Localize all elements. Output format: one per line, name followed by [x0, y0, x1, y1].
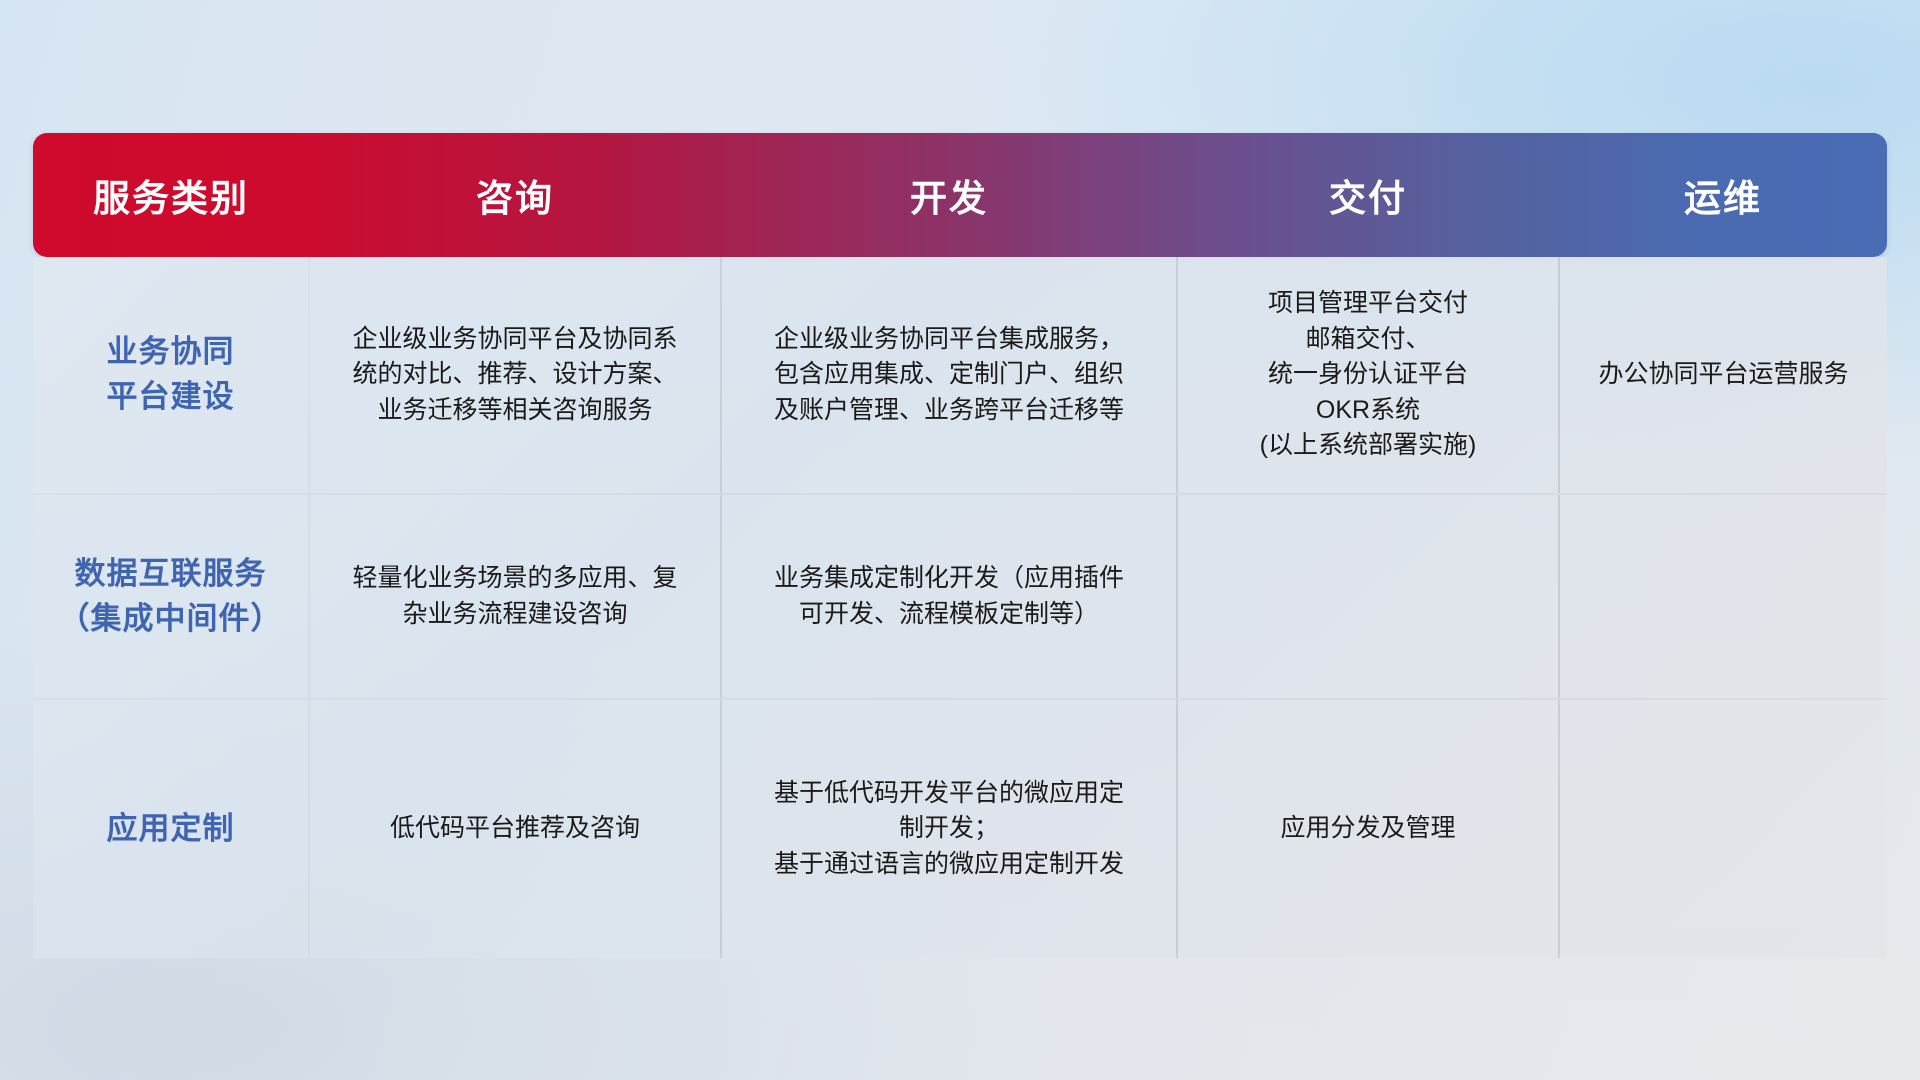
table-row: 业务协同 平台建设 企业级业务协同平台及协同系 统的对比、推荐、设计方案、 业务… — [33, 257, 1887, 494]
cell-development-row2: 业务集成定制化开发（应用插件 可开发、流程模板定制等） — [721, 494, 1177, 699]
row-label-business-collaboration-platform: 业务协同 平台建设 — [33, 257, 309, 494]
cell-development-row3: 基于低代码开发平台的微应用定 制开发； 基于通过语言的微应用定制开发 — [721, 699, 1177, 958]
table-header-row: 服务类别 咨询 开发 交付 运维 — [33, 133, 1887, 257]
cell-operations-row3 — [1559, 699, 1887, 958]
table-row: 应用定制 低代码平台推荐及咨询 基于低代码开发平台的微应用定 制开发； 基于通过… — [33, 699, 1887, 958]
cell-consulting-row1: 企业级业务协同平台及协同系 统的对比、推荐、设计方案、 业务迁移等相关咨询服务 — [309, 257, 721, 494]
cell-delivery-row3: 应用分发及管理 — [1177, 699, 1559, 958]
cell-development-row1: 企业级业务协同平台集成服务， 包含应用集成、定制门户、组织 及账户管理、业务跨平… — [721, 257, 1177, 494]
cell-consulting-row3: 低代码平台推荐及咨询 — [309, 699, 721, 958]
column-header-operations: 运维 — [1559, 133, 1887, 257]
row-label-application-customization: 应用定制 — [33, 699, 309, 958]
column-header-development: 开发 — [721, 133, 1177, 257]
table-row: 数据互联服务 （集成中间件） 轻量化业务场景的多应用、复 杂业务流程建设咨询 业… — [33, 494, 1887, 699]
column-header-consulting: 咨询 — [309, 133, 721, 257]
cell-delivery-row2 — [1177, 494, 1559, 699]
service-matrix-table: 服务类别 咨询 开发 交付 运维 业务协同 平台建设 企业级业务协同平台及协同系… — [33, 133, 1887, 958]
row-label-data-interconnect-service: 数据互联服务 （集成中间件） — [33, 494, 309, 699]
cell-consulting-row2: 轻量化业务场景的多应用、复 杂业务流程建设咨询 — [309, 494, 721, 699]
cell-operations-row1: 办公协同平台运营服务 — [1559, 257, 1887, 494]
cell-operations-row2 — [1559, 494, 1887, 699]
cell-delivery-row1: 项目管理平台交付 邮箱交付、 统一身份认证平台 OKR系统 (以上系统部署实施) — [1177, 257, 1559, 494]
column-header-delivery: 交付 — [1177, 133, 1559, 257]
table-body: 业务协同 平台建设 企业级业务协同平台及协同系 统的对比、推荐、设计方案、 业务… — [33, 257, 1887, 958]
column-header-service-category: 服务类别 — [33, 133, 309, 257]
